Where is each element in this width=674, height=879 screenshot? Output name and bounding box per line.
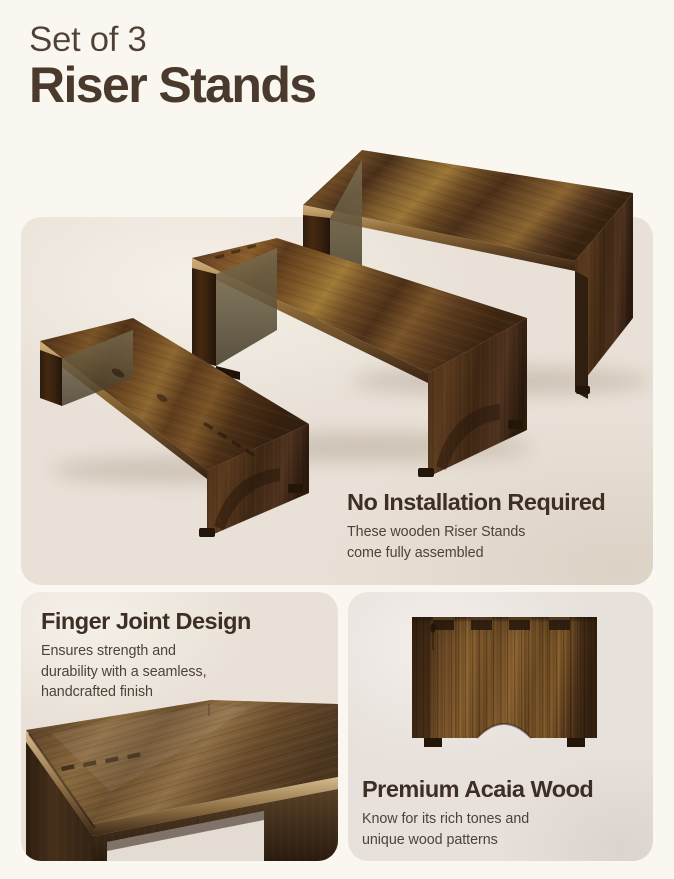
- acacia-wood-subtitle: Know for its rich tones and unique wood …: [362, 809, 652, 850]
- finger-joint-title: Finger Joint Design: [41, 608, 321, 634]
- hero-text-block: No Installation Required These wooden Ri…: [347, 489, 647, 563]
- acacia-wood-text-block: Premium Acaia Wood Know for its rich ton…: [362, 776, 652, 850]
- hero-feature-subtitle: These wooden Riser Stands come fully ass…: [347, 522, 647, 563]
- acacia-wood-title: Premium Acaia Wood: [362, 776, 652, 802]
- riser-shadow-medium: [201, 432, 531, 462]
- header-eyebrow: Set of 3: [29, 22, 589, 58]
- page-header: Set of 3 Riser Stands: [29, 22, 589, 112]
- finger-joint-subtitle: Ensures strength and durability with a s…: [41, 641, 321, 702]
- finger-joint-text-block: Finger Joint Design Ensures strength and…: [41, 608, 321, 702]
- riser-shadow-large: [351, 367, 651, 395]
- acacia-wood-leg-panel-image: [409, 614, 600, 754]
- riser-shadow-small: [51, 457, 301, 483]
- hero-feature-title: No Installation Required: [347, 489, 647, 515]
- page-title: Riser Stands: [29, 59, 589, 112]
